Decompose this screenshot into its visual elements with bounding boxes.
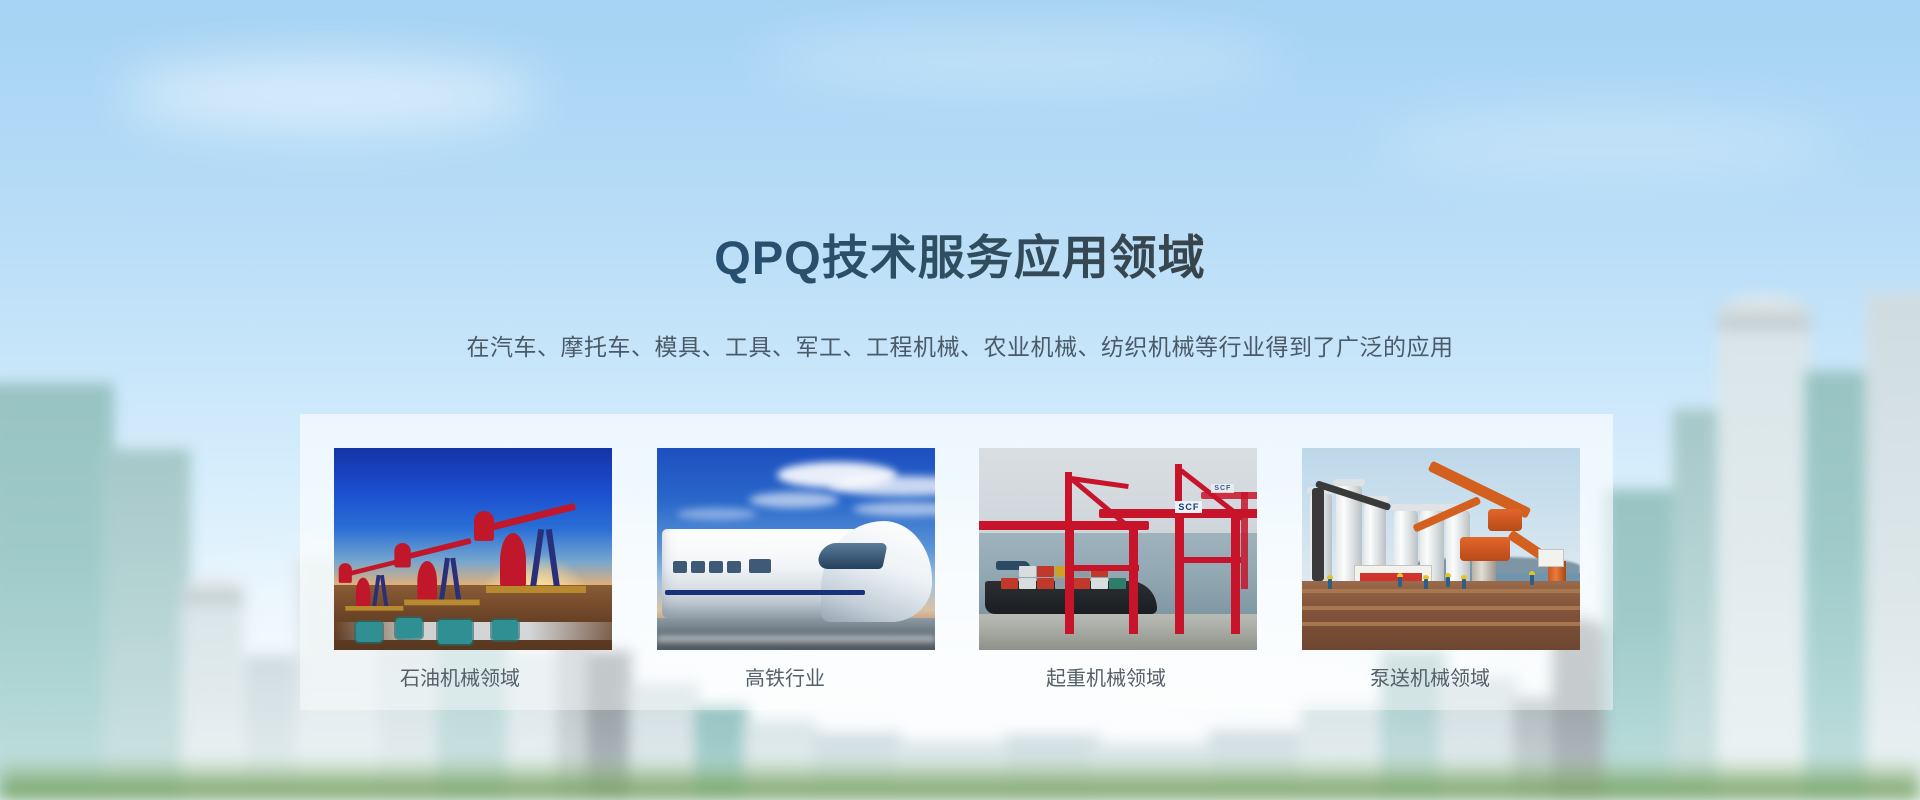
application-card-rail[interactable] bbox=[657, 448, 935, 606]
card-caption-pump: 泵送机械领域 bbox=[1370, 662, 1490, 691]
scf-logo-far: SCF bbox=[1211, 484, 1234, 493]
card-caption-crane: 起重机械领域 bbox=[1046, 662, 1166, 691]
page-title: QPQ技术服务应用领域 bbox=[0, 232, 1920, 284]
application-card-pump[interactable] bbox=[1302, 448, 1580, 606]
cloud-wisp bbox=[1380, 110, 1840, 174]
cloud-wisp bbox=[120, 60, 540, 130]
port-gantry-cranes-photo: SCF SCF bbox=[979, 448, 1257, 650]
application-card-oil[interactable] bbox=[334, 448, 612, 606]
high-speed-train-crh-photo bbox=[657, 448, 935, 650]
oil-pumpjacks-sunset-photo bbox=[334, 448, 612, 650]
concrete-pumping-silos-photo bbox=[1302, 448, 1580, 650]
scf-logo: SCF bbox=[1175, 501, 1202, 513]
application-card-crane[interactable]: SCF SCF bbox=[979, 448, 1257, 606]
card-caption-rail: 高铁行业 bbox=[745, 662, 825, 691]
hero-banner: QPQ技术服务应用领域 在汽车、摩托车、模具、工具、军工、工程机械、农业机械、纺… bbox=[0, 0, 1920, 800]
page-subtitle: 在汽车、摩托车、模具、工具、军工、工程机械、农业机械、纺织机械等行业得到了广泛的… bbox=[0, 328, 1920, 362]
application-card-list: SCF SCF bbox=[334, 448, 1580, 606]
card-caption-oil: 石油机械领域 bbox=[400, 662, 520, 691]
cloud-wisp bbox=[760, 30, 1280, 90]
